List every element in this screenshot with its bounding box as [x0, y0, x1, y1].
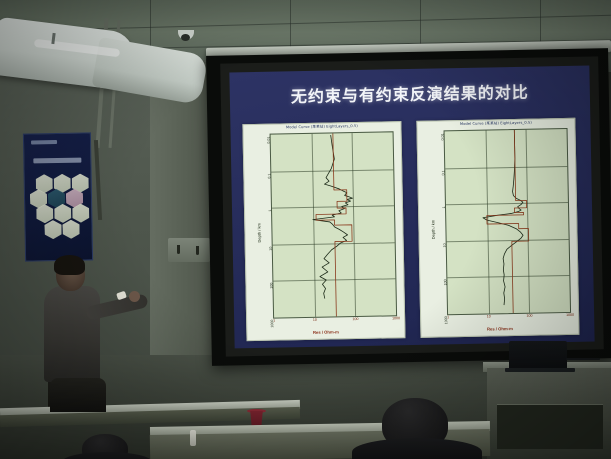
laptop-cable [566, 358, 600, 360]
chart-xtick-label: 10 [313, 318, 317, 322]
laptop-screen[interactable] [509, 341, 567, 370]
wall-column [150, 60, 190, 390]
projection-screen: 无约束与有约束反演结果的对比 Model Curve (某某站) EightLa… [220, 56, 604, 356]
chart-xtick-label: 1000 [566, 313, 574, 317]
audience-shoulders [352, 438, 482, 459]
chart-curves [271, 132, 396, 317]
chart-xtick-label: 1000 [392, 316, 400, 320]
presentation-room-photo: 无约束与有约束反演结果的对比 Model Curve (某某站) EightLa… [0, 0, 611, 459]
coat-hook-icon [196, 246, 199, 255]
chart-panel-right: Model Curve (某某站) EightLayers_0.5) Depth… [416, 118, 579, 338]
water-bottle [190, 430, 196, 446]
ceiling-grid-line [420, 0, 421, 44]
chart-series-inverted-model-unconstrained [311, 135, 354, 299]
chart-ylabel-left: Depth / km [256, 223, 261, 242]
chart-xtick-label: 100 [352, 317, 358, 321]
chart-panel-left: Model Curve (某某站) EightLayers_0.5) Depth… [242, 121, 405, 341]
presenter-hand [129, 291, 140, 302]
chart-xlabel-left: Res / Ohm-m [247, 328, 404, 336]
poster-hex-cell [44, 220, 61, 239]
projection-screen-frame: 无约束与有约束反演结果的对比 Model Curve (某某站) EightLa… [206, 48, 611, 366]
laptop-base[interactable] [505, 368, 575, 372]
slide: 无约束与有约束反演结果的对比 Model Curve (某某站) EightLa… [229, 66, 594, 349]
chart-xtick-label: 10 [487, 314, 491, 318]
presenter-body [44, 286, 100, 382]
chart-title-left: Model Curve (某某站) EightLayers_0.5) [243, 123, 400, 131]
chart-series-inverted-model-constrained [481, 130, 525, 306]
chart-curves [445, 129, 570, 314]
podium-front-panel [497, 404, 603, 449]
ceiling-grid-line [540, 0, 541, 42]
dome-camera-lens [181, 34, 190, 41]
chart-xtick-label: 100 [526, 314, 532, 318]
wall-poster [23, 132, 93, 261]
poster-title-bar [33, 158, 81, 164]
presenter-hair [54, 255, 85, 275]
coat-hook-icon [177, 245, 180, 254]
slide-title: 无约束与有约束反演结果的对比 [230, 78, 590, 109]
chart-ylabel-right: Depth / km [430, 219, 435, 238]
chart-xlabel-right: Res / Ohm-m [421, 325, 578, 333]
audience-silhouette [50, 378, 106, 412]
poster-hex-cell [62, 220, 79, 239]
chart-plot-right: 11010010000.010.11101001000 [444, 128, 572, 315]
chart-plot-left: 11010010000.010.11101001000 [270, 131, 398, 318]
chart-title-right: Model Curve (某某站) EightLayers_0.5) [417, 120, 574, 128]
chart-ytick-label: 1000 [444, 316, 448, 324]
chart-ytick-label: 1000 [270, 320, 274, 328]
poster-logo [31, 140, 57, 144]
coat-hook-panel [168, 238, 210, 262]
poster-hexagon-grid [30, 173, 89, 256]
